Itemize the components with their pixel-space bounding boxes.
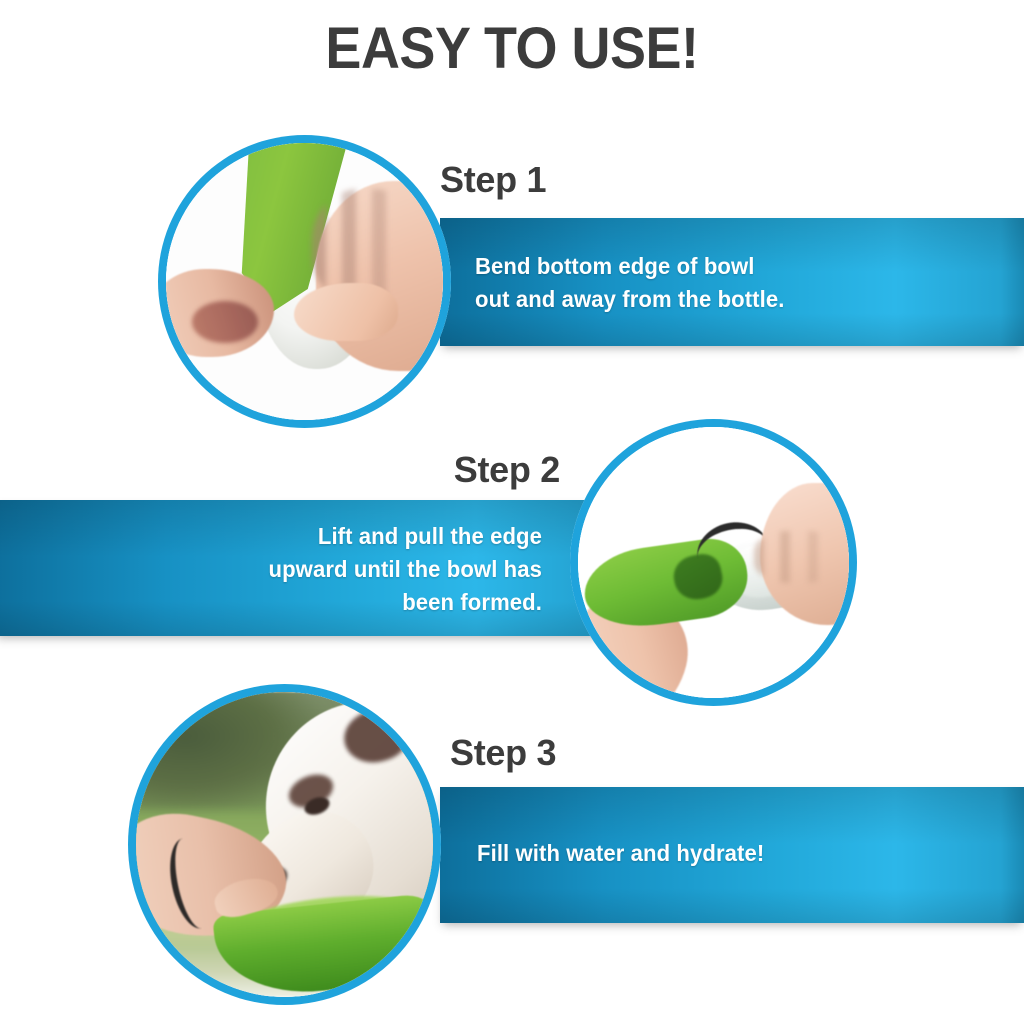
step-1-photo-inner xyxy=(166,143,443,420)
step-2-photo-inner xyxy=(578,427,849,698)
step-1-banner-text: Bend bottom edge of bowl out and away fr… xyxy=(475,250,784,316)
step-3-photo-inner xyxy=(136,692,433,997)
step-3-banner-text: Fill with water and hydrate! xyxy=(477,837,764,870)
step-1-photo xyxy=(158,135,451,428)
step-2-photo xyxy=(570,419,857,706)
step-2-label: Step 2 xyxy=(360,450,560,490)
step-3-photo xyxy=(128,684,441,1005)
step-3-label: Step 3 xyxy=(450,733,556,773)
infographic-canvas: EASY TO USE! Bend bottom edge of bowl ou… xyxy=(0,0,1024,1032)
step-1-label: Step 1 xyxy=(440,160,546,200)
page-title: EASY TO USE! xyxy=(36,18,988,80)
step-2-fingers-shape xyxy=(754,531,840,583)
step-2-banner-text: Lift and pull the edge upward until the … xyxy=(194,520,542,619)
step-1-left-hand-shadow xyxy=(192,301,258,343)
step-1-thumb-shape xyxy=(294,283,398,341)
